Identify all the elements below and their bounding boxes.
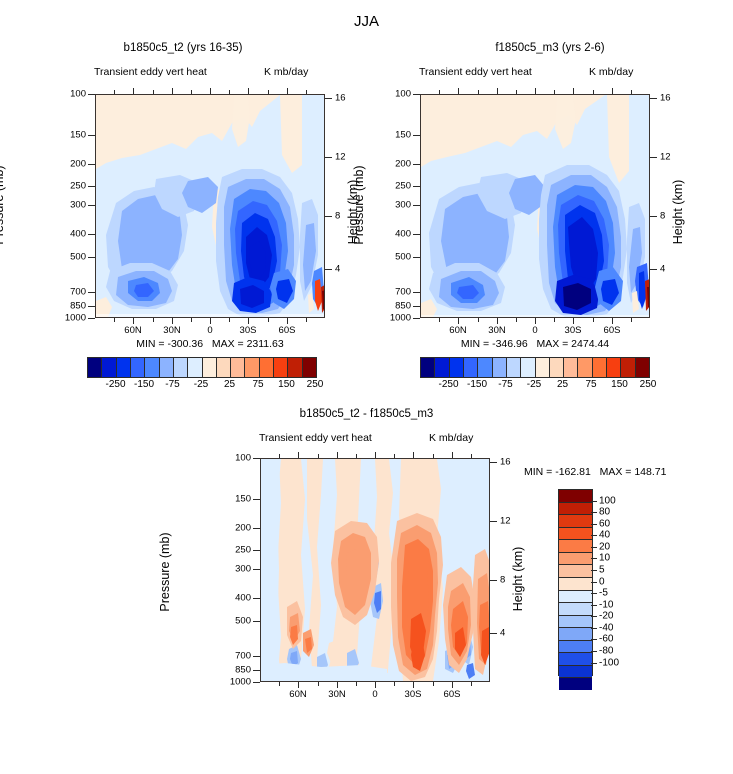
xtick-label: 30S <box>405 689 422 700</box>
colorbar-tick <box>591 535 597 536</box>
colorbar-tick <box>591 582 597 583</box>
max-label: MAX = 2311.63 <box>212 338 284 350</box>
ytick-label: 850 <box>383 301 411 312</box>
colorbar-label: -10 <box>599 599 613 610</box>
xtick-mark-top <box>172 88 173 94</box>
ytick-mark <box>413 257 420 258</box>
ytick-mark <box>413 234 420 235</box>
ytick-label: 200 <box>223 523 251 534</box>
xtick-label: 30N <box>488 325 505 336</box>
xtick-mark-minor <box>516 318 517 322</box>
xtick-mark-minor <box>593 318 594 322</box>
ytick-mark <box>413 164 420 165</box>
xtick-mark-top-minor <box>356 454 357 458</box>
xtick-mark-top-minor <box>306 90 307 94</box>
colorbar-tick <box>591 651 597 652</box>
xtick-mark-minor <box>268 318 269 322</box>
colorbar-label: -250 <box>438 379 458 390</box>
y2tick-label: 12 <box>335 152 346 163</box>
xtick-label: 0 <box>207 325 212 336</box>
xtick-mark-minor <box>318 682 319 686</box>
colorbar-tick <box>591 593 597 594</box>
xtick-label: 30N <box>328 689 345 700</box>
xtick-mark <box>337 682 338 688</box>
xtick-mark <box>375 682 376 688</box>
colorbar-label: -80 <box>599 646 613 657</box>
xtick-mark <box>287 318 288 324</box>
xtick-mark <box>133 318 134 324</box>
xtick-mark <box>210 318 211 324</box>
colorbar-diff-strip[interactable] <box>558 489 593 676</box>
colorbar-tick <box>591 558 597 559</box>
xtick-mark <box>248 318 249 324</box>
xtick-mark-top-minor <box>268 90 269 94</box>
xtick-mark-top <box>248 88 249 94</box>
ytick-label: 400 <box>383 229 411 240</box>
ytick-mark <box>253 682 260 683</box>
xtick-label: 60N <box>124 325 141 336</box>
colorbar-label: -25 <box>527 379 541 390</box>
ytick-mark <box>413 135 420 136</box>
ytick-label: 150 <box>58 130 86 141</box>
panel-top-right-plot <box>420 94 650 318</box>
xtick-mark-top <box>298 452 299 458</box>
xtick-mark-top <box>458 88 459 94</box>
colorbar-tick <box>591 501 597 502</box>
xtick-mark-minor <box>114 318 115 322</box>
ytick-label: 500 <box>223 616 251 627</box>
ytick-mark <box>88 205 95 206</box>
y2tick-mark <box>490 633 497 634</box>
colorbar-tick <box>591 524 597 525</box>
colorbar-label: 150 <box>278 379 295 390</box>
ytick-mark <box>413 292 420 293</box>
colorbar-label: 80 <box>599 507 610 518</box>
xtick-mark-top-minor <box>554 90 555 94</box>
y2tick-mark <box>650 98 657 99</box>
colorbar-tick <box>591 639 597 640</box>
xtick-mark <box>452 682 453 688</box>
xtick-mark-top-minor <box>631 90 632 94</box>
y2tick-label: 16 <box>500 457 511 468</box>
max-label: MAX = 2474.44 <box>536 338 609 350</box>
panel-bottom-diff-y2label: Height (km) <box>511 539 525 619</box>
ytick-mark <box>253 569 260 570</box>
ytick-label: 150 <box>383 130 411 141</box>
y2tick-label: 4 <box>660 264 665 275</box>
ytick-label: 250 <box>58 181 86 192</box>
ytick-mark <box>88 135 95 136</box>
y2tick-mark <box>490 521 497 522</box>
xtick-mark-top <box>287 88 288 94</box>
colorbar-label: 100 <box>599 495 616 506</box>
colorbar-label: -75 <box>165 379 179 390</box>
xtick-label: 60S <box>604 325 621 336</box>
ytick-label: 300 <box>383 200 411 211</box>
ytick-mark <box>413 318 420 319</box>
colorbar-label: 40 <box>599 530 610 541</box>
colorbar-tick <box>591 628 597 629</box>
panel-bottom-diff-contours <box>261 459 490 682</box>
xtick-mark-top-minor <box>433 454 434 458</box>
ytick-mark <box>253 656 260 657</box>
ytick-label: 700 <box>223 651 251 662</box>
ytick-mark <box>88 186 95 187</box>
ytick-mark <box>88 164 95 165</box>
ytick-label: 400 <box>223 593 251 604</box>
colorbar-label: 10 <box>599 553 610 564</box>
xtick-mark-top-minor <box>114 90 115 94</box>
panel-bottom-diff: b1850c5_t2 - f1850c5_m3 Transient eddy v… <box>183 400 550 700</box>
xtick-mark <box>413 682 414 688</box>
y2tick-label: 16 <box>660 93 671 104</box>
colorbar-label: -250 <box>105 379 125 390</box>
ytick-label: 850 <box>223 665 251 676</box>
panel-top-right-minmax: MIN = -346.96 MAX = 2474.44 <box>420 338 650 350</box>
y2tick-mark <box>650 216 657 217</box>
xtick-mark-top-minor <box>471 454 472 458</box>
ytick-mark <box>253 550 260 551</box>
ytick-label: 1000 <box>217 677 251 688</box>
y2tick-label: 12 <box>660 152 671 163</box>
y2tick-label: 8 <box>335 211 340 222</box>
panel-top-left-units-label: K mb/day <box>264 66 308 78</box>
ytick-mark <box>413 94 420 95</box>
xtick-mark-top-minor <box>478 90 479 94</box>
xtick-mark <box>298 682 299 688</box>
colorbar-main-left-strip[interactable] <box>87 357 317 378</box>
xtick-mark <box>172 318 173 324</box>
xtick-mark <box>573 318 574 324</box>
y2tick-mark <box>490 462 497 463</box>
panel-top-right-variable-label: Transient eddy vert heat <box>419 66 532 78</box>
panel-bottom-diff-units-label: K mb/day <box>429 432 473 444</box>
ytick-mark <box>88 257 95 258</box>
panel-top-right: f1850c5_m3 (yrs 2-6) Transient eddy vert… <box>367 0 733 400</box>
y2tick-mark <box>490 580 497 581</box>
xtick-mark-top <box>612 88 613 94</box>
xtick-mark-top <box>535 88 536 94</box>
colorbar-label: 25 <box>557 379 568 390</box>
ytick-mark <box>88 234 95 235</box>
panel-top-right-y2label: Height (km) <box>671 172 685 252</box>
xtick-label: 60N <box>449 325 466 336</box>
y2tick-mark <box>650 157 657 158</box>
colorbar-tick <box>591 570 597 571</box>
colorbar-tick <box>591 663 597 664</box>
panel-top-right-contours <box>421 95 650 318</box>
ytick-mark <box>413 306 420 307</box>
xtick-label: 30S <box>565 325 582 336</box>
xtick-mark-top <box>497 88 498 94</box>
min-label: MIN = -162.81 <box>524 466 591 478</box>
colorbar-label: -25 <box>194 379 208 390</box>
panel-top-left-plot <box>95 94 325 318</box>
colorbar-label: -100 <box>599 657 619 668</box>
xtick-mark-minor <box>191 318 192 322</box>
xtick-mark-minor <box>153 318 154 322</box>
y2tick-label: 8 <box>500 575 505 586</box>
xtick-mark-top <box>210 88 211 94</box>
ytick-label: 700 <box>383 287 411 298</box>
y2tick-mark <box>325 157 332 158</box>
y2tick-label: 4 <box>335 264 340 275</box>
panel-bottom-diff-plot <box>260 458 490 682</box>
xtick-mark-minor <box>433 682 434 686</box>
xtick-mark <box>535 318 536 324</box>
colorbar-label: 5 <box>599 565 605 576</box>
ytick-mark <box>88 318 95 319</box>
panel-top-left: b1850c5_t2 (yrs 16-35) Transient eddy ve… <box>0 0 366 400</box>
xtick-mark-top-minor <box>394 454 395 458</box>
min-label: MIN = -300.36 <box>136 338 203 350</box>
colorbar-label: -20 <box>599 611 613 622</box>
ytick-mark <box>88 292 95 293</box>
panel-bottom-diff-title: b1850c5_t2 - f1850c5_m3 <box>183 408 550 420</box>
colorbar-label: -60 <box>599 634 613 645</box>
ytick-label: 400 <box>58 229 86 240</box>
y2tick-label: 12 <box>500 516 511 527</box>
ytick-mark <box>88 94 95 95</box>
colorbar-label: -5 <box>599 588 608 599</box>
xtick-label: 60S <box>444 689 461 700</box>
panel-bottom-diff-variable-label: Transient eddy vert heat <box>259 432 372 444</box>
ytick-label: 150 <box>223 494 251 505</box>
ytick-label: 250 <box>383 181 411 192</box>
colorbar-label: 75 <box>585 379 596 390</box>
y2tick-mark <box>650 269 657 270</box>
ytick-label: 200 <box>58 159 86 170</box>
ytick-mark <box>253 670 260 671</box>
xtick-mark <box>458 318 459 324</box>
ytick-label: 250 <box>223 545 251 556</box>
y2tick-label: 4 <box>500 628 505 639</box>
ytick-mark <box>413 186 420 187</box>
panel-bottom-diff-ylabel: Pressure (mb) <box>158 527 172 617</box>
ytick-label: 500 <box>383 252 411 263</box>
ytick-mark <box>253 621 260 622</box>
ytick-label: 700 <box>58 287 86 298</box>
y2tick-label: 16 <box>335 93 346 104</box>
ytick-mark <box>253 598 260 599</box>
xtick-label: 60S <box>279 325 296 336</box>
panel-bottom-diff-minmax: MIN = -162.81 MAX = 148.71 <box>524 466 733 478</box>
ytick-label: 850 <box>58 301 86 312</box>
xtick-label: 30S <box>240 325 257 336</box>
xtick-mark-minor <box>279 682 280 686</box>
xtick-mark-top-minor <box>153 90 154 94</box>
colorbar-label: 150 <box>611 379 628 390</box>
ytick-mark <box>253 528 260 529</box>
xtick-mark-minor <box>478 318 479 322</box>
ytick-label: 300 <box>223 564 251 575</box>
colorbar-tick <box>591 605 597 606</box>
xtick-mark-top-minor <box>191 90 192 94</box>
panel-top-left-variable-label: Transient eddy vert heat <box>94 66 207 78</box>
colorbar-main-right-strip[interactable] <box>420 357 650 378</box>
xtick-label: 0 <box>372 689 377 700</box>
xtick-label: 60N <box>289 689 306 700</box>
xtick-mark-minor <box>394 682 395 686</box>
xtick-mark-top-minor <box>279 454 280 458</box>
max-label: MAX = 148.71 <box>600 466 667 478</box>
ytick-mark <box>88 306 95 307</box>
colorbar-label: 20 <box>599 541 610 552</box>
panel-top-left-contours <box>96 95 325 318</box>
xtick-mark-top <box>413 452 414 458</box>
xtick-mark-top-minor <box>516 90 517 94</box>
colorbar-label: 60 <box>599 518 610 529</box>
colorbar-label: -75 <box>498 379 512 390</box>
panel-top-right-ylabel: Pressure (mb) <box>352 160 366 250</box>
colorbar-tick <box>591 512 597 513</box>
ytick-label: 100 <box>383 89 411 100</box>
colorbar-label: 250 <box>307 379 324 390</box>
ytick-mark <box>253 499 260 500</box>
panel-top-left-ylabel: Pressure (mb) <box>0 160 6 250</box>
y2tick-mark <box>325 269 332 270</box>
colorbar-label: 75 <box>252 379 263 390</box>
colorbar-tick <box>591 616 597 617</box>
ytick-label: 500 <box>58 252 86 263</box>
ytick-label: 300 <box>58 200 86 211</box>
panel-top-right-units-label: K mb/day <box>589 66 633 78</box>
colorbar-label: -150 <box>467 379 487 390</box>
xtick-mark-top-minor <box>318 454 319 458</box>
panel-top-right-title: f1850c5_m3 (yrs 2-6) <box>367 42 733 54</box>
xtick-mark-minor <box>631 318 632 322</box>
xtick-label: 0 <box>532 325 537 336</box>
xtick-mark-minor <box>471 682 472 686</box>
xtick-mark-top <box>337 452 338 458</box>
colorbar-tick <box>591 547 597 548</box>
ytick-label: 100 <box>58 89 86 100</box>
xtick-mark-minor <box>229 318 230 322</box>
y2tick-mark <box>325 98 332 99</box>
min-label: MIN = -346.96 <box>461 338 528 350</box>
panel-top-left-title: b1850c5_t2 (yrs 16-35) <box>0 42 366 54</box>
panel-top-left-minmax: MIN = -300.36 MAX = 2311.63 <box>95 338 325 350</box>
xtick-mark-minor <box>554 318 555 322</box>
y2tick-label: 8 <box>660 211 665 222</box>
xtick-mark-minor <box>439 318 440 322</box>
ytick-mark <box>413 205 420 206</box>
y2tick-mark <box>325 216 332 217</box>
ytick-label: 1000 <box>377 313 411 324</box>
xtick-mark-top <box>133 88 134 94</box>
xtick-mark-top-minor <box>439 90 440 94</box>
figure-root: JJA b1850c5_t2 (yrs 16-35) Transient edd… <box>0 0 733 774</box>
ytick-mark <box>253 458 260 459</box>
ytick-label: 1000 <box>52 313 86 324</box>
xtick-label: 30N <box>163 325 180 336</box>
xtick-mark <box>497 318 498 324</box>
xtick-mark-top <box>573 88 574 94</box>
ytick-label: 200 <box>383 159 411 170</box>
colorbar-label: -40 <box>599 622 613 633</box>
xtick-mark-top-minor <box>229 90 230 94</box>
colorbar-label: 25 <box>224 379 235 390</box>
xtick-mark-minor <box>306 318 307 322</box>
xtick-mark-minor <box>356 682 357 686</box>
xtick-mark-top <box>452 452 453 458</box>
ytick-label: 100 <box>223 453 251 464</box>
colorbar-label: 250 <box>640 379 657 390</box>
xtick-mark <box>612 318 613 324</box>
colorbar-label: 0 <box>599 576 605 587</box>
colorbar-label: -150 <box>134 379 154 390</box>
xtick-mark-top-minor <box>593 90 594 94</box>
xtick-mark-top <box>375 452 376 458</box>
